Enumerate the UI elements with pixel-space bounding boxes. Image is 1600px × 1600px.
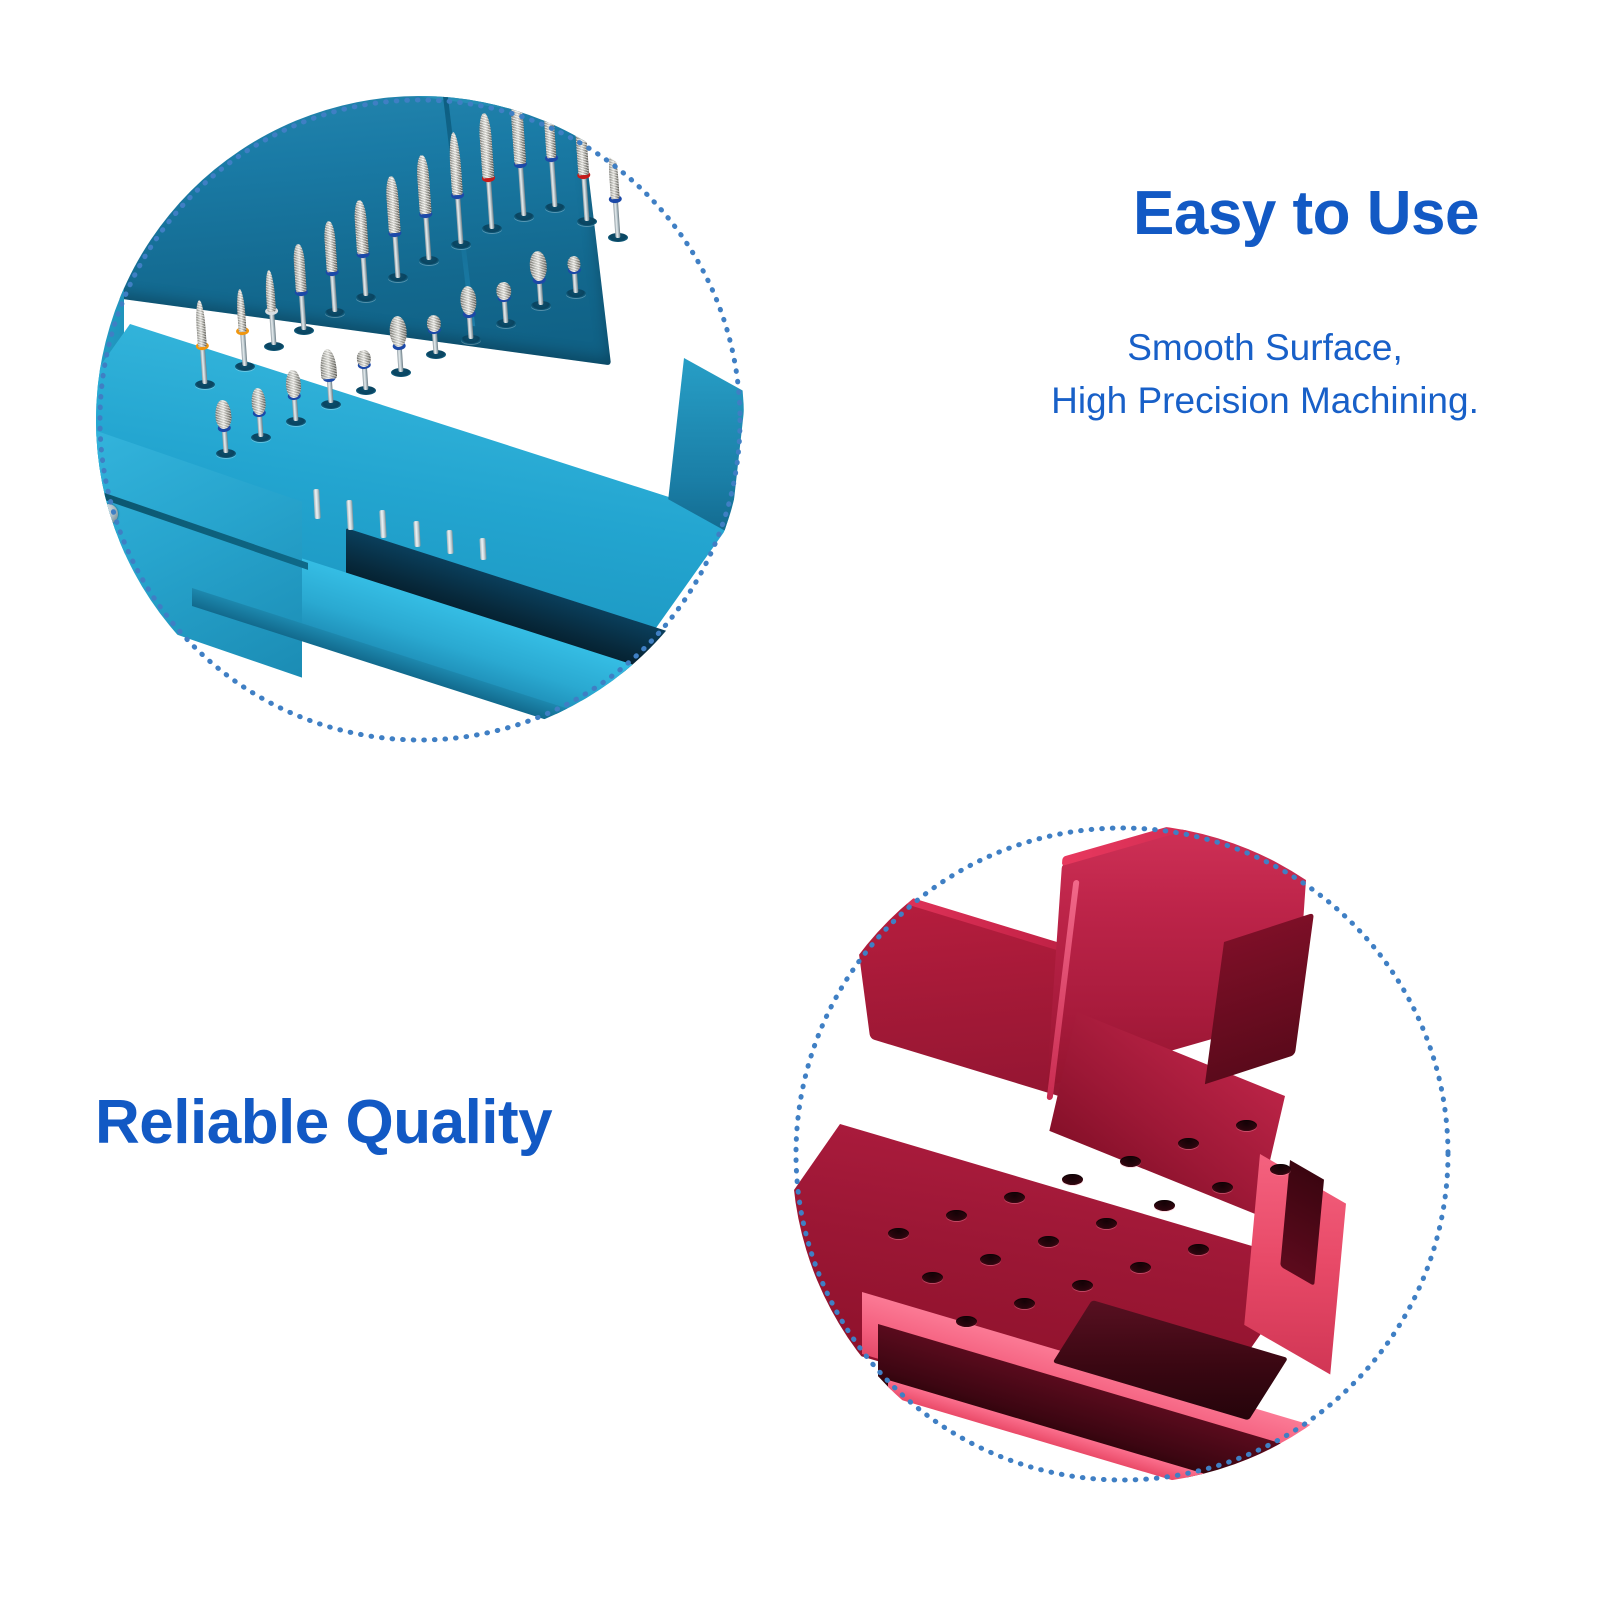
diamond-bur — [568, 116, 599, 222]
diamond-bur — [257, 270, 286, 347]
bur-hole — [1130, 1262, 1151, 1273]
bur-hole — [922, 1272, 943, 1283]
diamond-bur — [385, 315, 413, 373]
product-feature-sheet: Easy to Use Smooth Surface, High Precisi… — [0, 0, 1600, 1600]
bur-head — [608, 149, 620, 199]
blue-block-scene — [96, 96, 744, 744]
bur-shank — [397, 346, 404, 372]
bur-shank — [329, 270, 337, 312]
bur-shank — [269, 311, 276, 346]
bur-hole — [1178, 1138, 1199, 1149]
bur-shank — [423, 212, 431, 261]
diamond-bur — [227, 288, 256, 367]
diamond-bur — [600, 149, 630, 238]
bur-hole — [1062, 1174, 1083, 1185]
bur-shank — [292, 398, 299, 422]
bur-hole — [1004, 1192, 1025, 1203]
bur-head — [319, 349, 337, 380]
diamond-bur — [526, 250, 554, 306]
bur-hole — [980, 1254, 1001, 1265]
bur-shank — [581, 173, 589, 222]
bur-hole — [1120, 1156, 1141, 1167]
bur-hole — [1270, 1164, 1291, 1175]
blue-block-photo — [96, 96, 744, 744]
page-title-reliable-quality: Reliable Quality — [95, 1087, 552, 1158]
bur-head — [448, 132, 463, 195]
diamond-bur — [315, 349, 343, 405]
bur-head — [478, 113, 494, 178]
bur-shank-front-row — [313, 489, 321, 519]
bur-shank-front-row — [346, 500, 354, 530]
bur-shank — [432, 332, 439, 355]
bur-shank — [392, 231, 400, 278]
diamond-bur — [441, 131, 473, 244]
subcopy-line-1: Smooth Surface, — [1005, 322, 1525, 375]
bur-head — [574, 116, 589, 175]
diamond-bur — [472, 112, 504, 229]
subcopy-easy-to-use: Smooth Surface, High Precision Machining… — [1005, 322, 1525, 427]
diamond-bur — [351, 338, 378, 390]
bur-shank — [518, 161, 527, 216]
diamond-bur — [187, 300, 217, 386]
diamond-bur — [491, 271, 518, 323]
bur-head — [195, 300, 207, 348]
bur-hole — [1154, 1200, 1175, 1211]
bur-shank-front-row — [380, 510, 387, 538]
bur-hole — [956, 1316, 977, 1327]
bur-head — [510, 97, 527, 164]
bur-shank — [549, 156, 558, 208]
diamond-bur — [286, 244, 316, 331]
blue-bur-set — [96, 96, 744, 744]
pink-block-scene — [792, 824, 1452, 1484]
bur-hole — [1038, 1236, 1059, 1247]
bur-head — [354, 200, 370, 255]
diamond-bur — [504, 96, 536, 216]
diamond-bur — [561, 245, 588, 294]
bur-shank — [222, 428, 229, 452]
diamond-bur — [281, 370, 308, 422]
bur-hole — [1096, 1218, 1117, 1229]
bur-head — [356, 349, 371, 367]
page-title-easy-to-use: Easy to Use — [1133, 178, 1479, 249]
bur-shank — [486, 175, 495, 228]
bur-hole — [888, 1228, 909, 1239]
diamond-bur — [536, 96, 568, 208]
bur-shank — [240, 330, 247, 366]
bur-shank — [572, 271, 579, 293]
bur-head — [265, 270, 277, 313]
diamond-bur — [316, 220, 346, 313]
bur-hole — [1188, 1244, 1209, 1255]
bur-hole — [1236, 1120, 1257, 1131]
bur-head — [293, 244, 307, 293]
bur-shank-front-row — [413, 521, 420, 547]
bur-head — [323, 220, 338, 272]
subcopy-line-2: High Precision Machining. — [1005, 375, 1525, 428]
bur-shank — [537, 280, 544, 305]
diamond-bur — [246, 387, 273, 438]
pink-block-photo — [792, 824, 1452, 1484]
diamond-bur — [210, 399, 238, 453]
bur-head — [235, 289, 246, 333]
bur-hole — [946, 1210, 967, 1221]
callout-pink-bur-block — [792, 824, 1452, 1484]
bur-shank-front-row — [480, 538, 487, 560]
diamond-bur — [421, 305, 448, 356]
diamond-bur — [348, 200, 379, 298]
callout-blue-bur-block — [96, 96, 744, 744]
bur-hole — [1072, 1280, 1093, 1291]
bur-shank — [200, 346, 208, 385]
bur-shank — [361, 252, 369, 297]
bur-head — [543, 96, 557, 159]
diamond-bur — [456, 285, 484, 339]
bur-shank — [502, 299, 509, 323]
bur-shank — [299, 290, 307, 330]
bur-head — [385, 176, 401, 234]
bur-shank — [467, 314, 474, 338]
bur-hole — [1212, 1182, 1233, 1193]
bur-hole — [1014, 1298, 1035, 1309]
bur-shank — [455, 193, 464, 245]
bur-shank-front-row — [446, 529, 453, 553]
pink-hole-grid — [792, 824, 1452, 1484]
diamond-bur — [379, 175, 410, 278]
bur-shank — [327, 378, 334, 403]
bur-shank — [613, 197, 621, 238]
diamond-bur — [410, 154, 441, 260]
bur-head — [416, 155, 432, 215]
